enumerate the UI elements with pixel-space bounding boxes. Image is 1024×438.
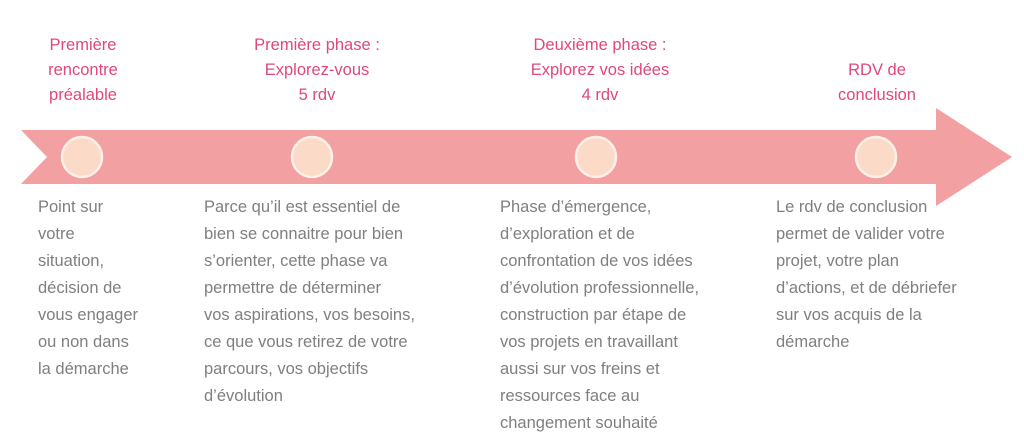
stage-description-1: Point sur votre situation, décision de v…: [38, 194, 198, 383]
milestone-circle-1: [62, 137, 102, 177]
stage-heading-4: RDV de conclusion: [800, 58, 954, 108]
stage-description-3: Phase d’émergence, d’exploration et de c…: [500, 194, 756, 437]
stage-description-4: Le rdv de conclusion permet de valider v…: [776, 194, 1008, 356]
stage-description-2: Parce qu’il est essentiel de bien se con…: [204, 194, 476, 410]
process-timeline-diagram: Première rencontre préalable Point sur v…: [0, 0, 1024, 438]
stage-heading-2: Première phase : Explorez-vous 5 rdv: [225, 33, 409, 108]
stage-heading-3: Deuxième phase : Explorez vos idées 4 rd…: [502, 33, 698, 108]
stage-heading-1: Première rencontre préalable: [8, 33, 158, 108]
milestone-circle-4: [856, 137, 896, 177]
milestone-circle-3: [576, 137, 616, 177]
milestone-circle-2: [292, 137, 332, 177]
